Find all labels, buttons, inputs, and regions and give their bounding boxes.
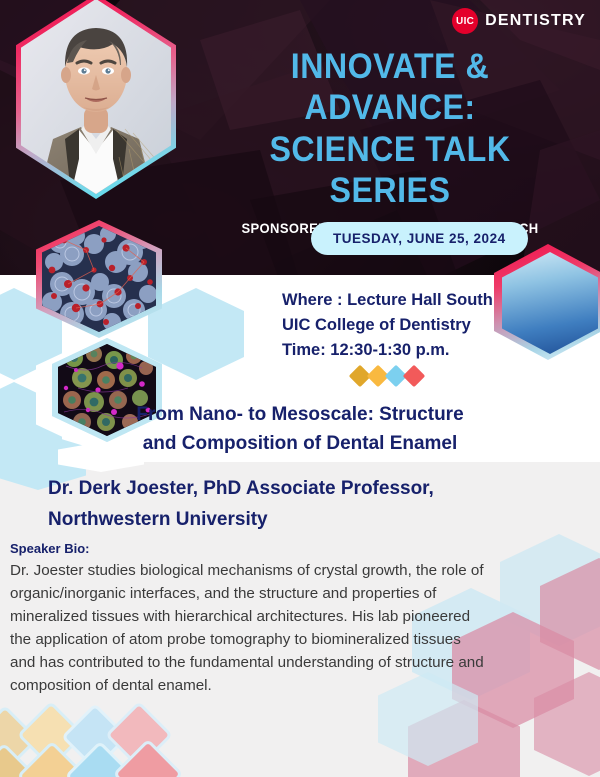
title-line-1: INNOVATE & ADVANCE: bbox=[206, 46, 574, 129]
uic-badge-icon: UIC bbox=[452, 8, 478, 34]
talk-title-line-2: and Composition of Dental Enamel bbox=[30, 429, 570, 458]
logo-wordmark: DENTISTRY bbox=[485, 12, 586, 30]
event-poster: UIC DENTISTRY bbox=[0, 0, 600, 777]
speaker-name-line-2: Northwestern University bbox=[48, 505, 568, 536]
speaker-photo bbox=[16, 0, 176, 199]
talk-title-line-1: From Nano- to Mesoscale: Structure bbox=[30, 400, 570, 429]
diamond-icon bbox=[403, 365, 426, 388]
speaker-bio-label: Speaker Bio: bbox=[10, 541, 89, 556]
poster-title: INNOVATE & ADVANCE: SCIENCE TALK SERIES … bbox=[190, 46, 590, 236]
title-line-2: SCIENCE TALK SERIES bbox=[206, 129, 574, 212]
venue-location: Where : Lecture Hall South bbox=[282, 288, 493, 313]
venue-time: Time: 12:30-1:30 p.m. bbox=[282, 338, 493, 363]
diamond-divider bbox=[352, 368, 422, 384]
speaker-bio-text: Dr. Joester studies biological mechanism… bbox=[10, 559, 490, 698]
speaker-name: Dr. Derk Joester, PhD Associate Professo… bbox=[48, 474, 568, 536]
venue-institution: UIC College of Dentistry bbox=[282, 313, 493, 338]
uic-dentistry-logo: UIC DENTISTRY bbox=[452, 8, 586, 34]
talk-title: From Nano- to Mesoscale: Structure and C… bbox=[30, 400, 570, 459]
event-date-badge: TUESDAY, JUNE 25, 2024 bbox=[311, 222, 528, 255]
speaker-name-line-1: Dr. Derk Joester, PhD Associate Professo… bbox=[48, 474, 568, 505]
venue-details: Where : Lecture Hall South UIC College o… bbox=[282, 288, 493, 363]
